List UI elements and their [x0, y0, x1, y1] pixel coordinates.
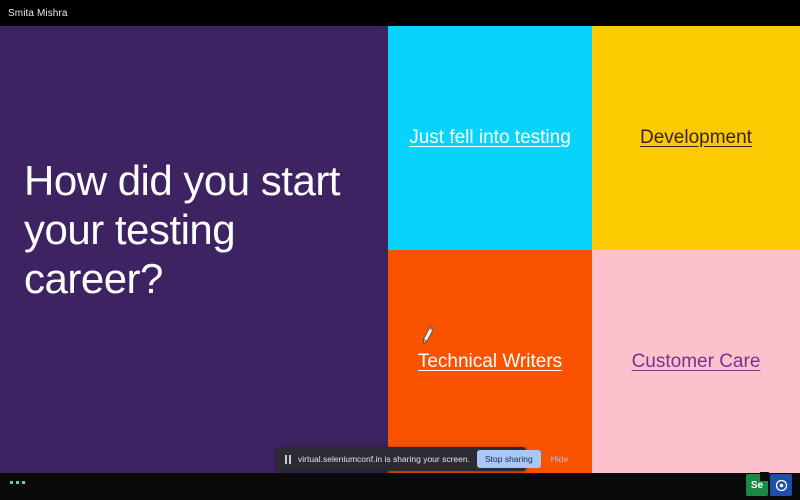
meeting-screen-share-view: Smita Mishra How did you start your test… [0, 0, 800, 500]
share-message: virtual.seleniumconf.in is sharing your … [298, 454, 470, 464]
os-taskbar [0, 473, 800, 500]
answer-quadrant-grid: Just fell into testing Development Techn… [388, 26, 800, 473]
quadrant-label: Customer Care [632, 350, 761, 374]
pause-icon [285, 455, 291, 464]
stop-sharing-button[interactable]: Stop sharing [477, 450, 541, 468]
slide-question-title: How did you start your testing career? [0, 156, 388, 343]
quadrant-just-fell-into-testing: Just fell into testing [388, 26, 592, 250]
shared-slide: How did you start your testing career? J… [0, 26, 800, 473]
screen-share-notification: virtual.seleniumconf.in is sharing your … [277, 447, 526, 471]
question-panel: How did you start your testing career? [0, 26, 388, 473]
presenter-bar: Smita Mishra [0, 0, 800, 26]
quadrant-label: Technical Writers [418, 350, 562, 374]
quadrant-customer-care: Customer Care [592, 250, 800, 473]
app-glyph-icon [775, 479, 788, 492]
quadrant-technical-writers: Technical Writers [388, 250, 592, 473]
presenter-name: Smita Mishra [0, 8, 68, 19]
overflow-dots-icon[interactable] [10, 481, 25, 484]
taskbar-tray: Se [746, 474, 792, 496]
blue-app-icon[interactable] [770, 474, 792, 496]
selenium-app-icon[interactable]: Se [746, 474, 768, 496]
quadrant-label: Development [640, 126, 752, 150]
quadrant-development: Development [592, 26, 800, 250]
hide-notification-button[interactable]: Hide [548, 452, 571, 466]
quadrant-label: Just fell into testing [409, 126, 571, 150]
